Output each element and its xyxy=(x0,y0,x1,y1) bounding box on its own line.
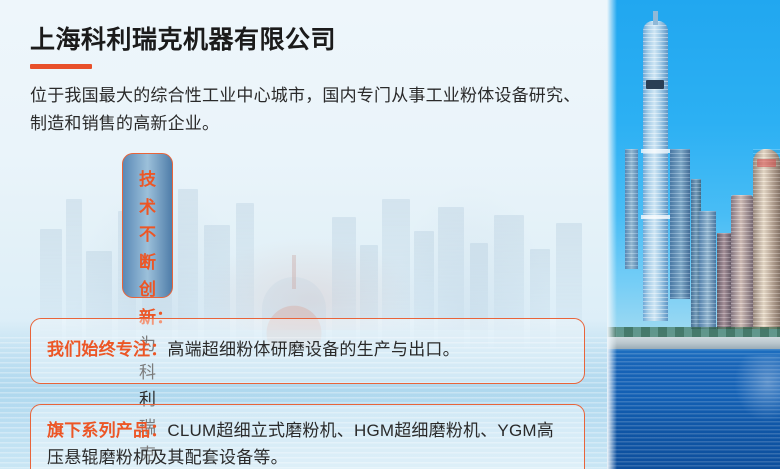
page-title: 上海科利瑞克机器有限公司 xyxy=(30,26,583,54)
round-crown-tower xyxy=(753,149,780,329)
company-description: 位于我国最大的综合性工业中心城市，国内专门从事工业粉体设备研究、制造和销售的高新… xyxy=(30,82,583,137)
skyline-building xyxy=(731,195,753,329)
shanghai-skyline-photo xyxy=(607,0,780,469)
slim-tower xyxy=(625,149,638,269)
shanghai-tower xyxy=(643,21,668,321)
company-profile-banner: 上海科利瑞克机器有限公司 位于我国最大的综合性工业中心城市，国内专门从事工业粉体… xyxy=(0,0,780,469)
highlight-line: 我们始终专注：高端超细粉体研磨设备的生产与出口。 xyxy=(47,336,568,364)
highlight-box-products: 旗下系列产品：CLUM超细立式磨粉机、HGM超细磨粉机、YGM高压悬辊磨粉机及其… xyxy=(30,404,585,469)
highlight-label: 技术不断创新： xyxy=(139,170,173,327)
skyline-building xyxy=(699,211,716,329)
highlight-line: 旗下系列产品：CLUM超细立式磨粉机、HGM超细磨粉机、YGM高压悬辊磨粉机及其… xyxy=(47,417,568,469)
huangpu-river-water xyxy=(607,349,780,469)
highlight-box-innovation: 技术不断创新：为科利瑞克臻萃了一批富有职业理想与行业经验的人才队伍；汇集了无机非… xyxy=(122,153,173,298)
photo-left-edge-fade xyxy=(607,0,617,469)
text-content: 上海科利瑞克机器有限公司 位于我国最大的综合性工业中心城市，国内专门从事工业粉体… xyxy=(0,0,607,469)
text-panel: 上海科利瑞克机器有限公司 位于我国最大的综合性工业中心城市，国内专门从事工业粉体… xyxy=(0,0,607,469)
highlight-label: 旗下系列产品： xyxy=(47,421,167,440)
shanghai-tower-tip xyxy=(653,11,658,25)
highlight-text: 高端超细粉体研磨设备的生产与出口。 xyxy=(167,340,459,359)
highlight-box-focus: 我们始终专注：高端超细粉体研磨设备的生产与出口。 xyxy=(30,318,585,384)
highlight-label: 我们始终专注： xyxy=(47,340,167,359)
shanghai-tower-sign xyxy=(646,80,664,89)
shanghai-tower-band xyxy=(641,215,670,219)
skyline-building xyxy=(717,233,731,329)
shanghai-tower-band xyxy=(641,149,670,153)
title-underline-rule xyxy=(30,64,92,69)
world-financial-center-tower xyxy=(670,149,690,299)
